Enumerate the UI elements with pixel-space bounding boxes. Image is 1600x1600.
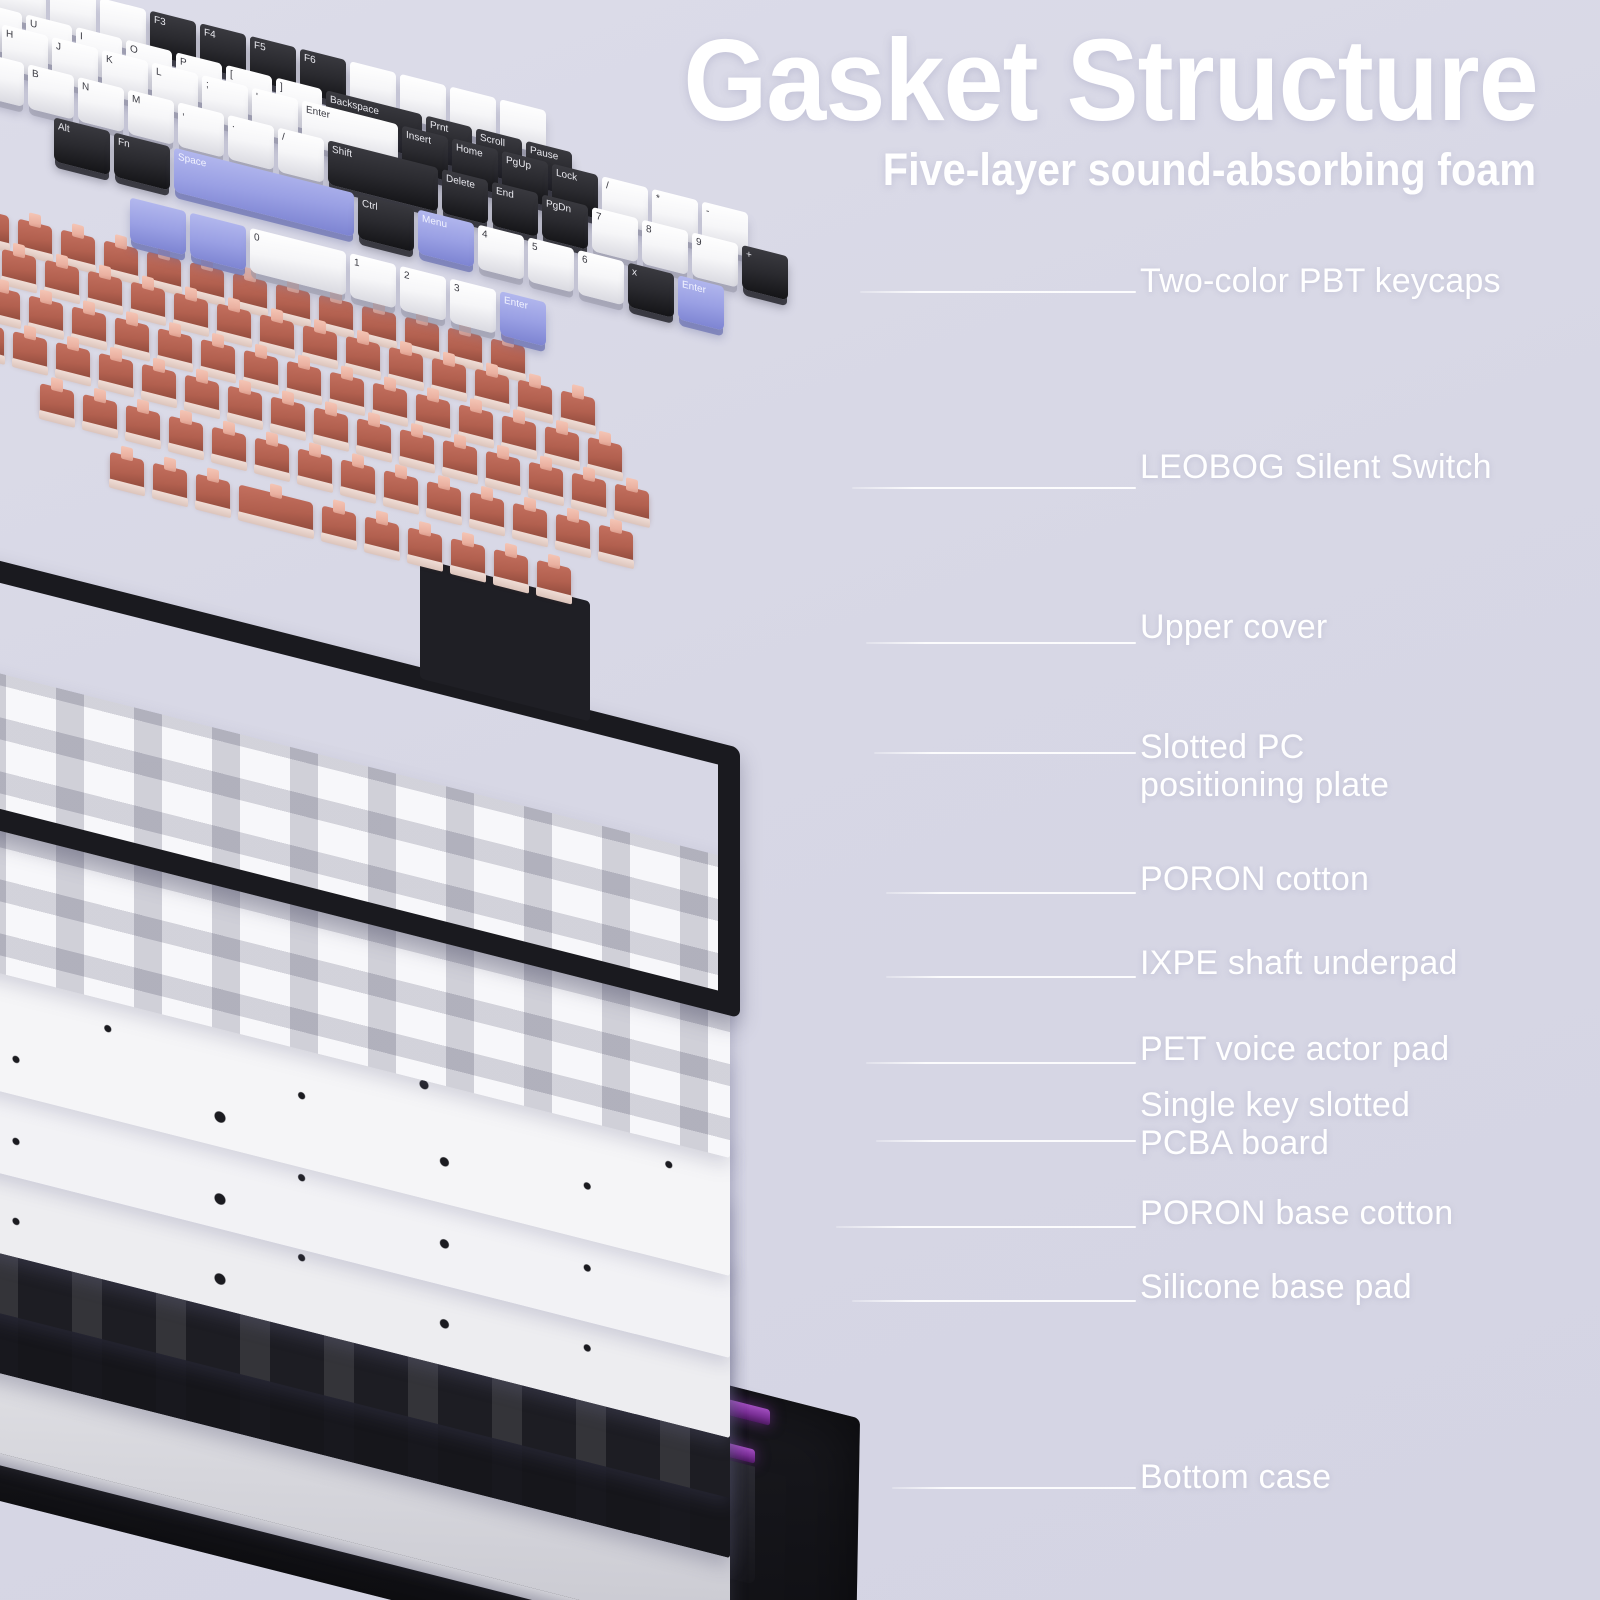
mechanical-switch — [513, 503, 547, 542]
keycap — [130, 197, 186, 255]
mechanical-switch — [212, 426, 246, 465]
mechanical-switch — [470, 492, 504, 531]
page-title: Gasket Structure — [684, 22, 1538, 138]
callout-label-poron-cotton: PORON cotton — [1140, 860, 1369, 898]
callout-label-switches: LEOBOG Silent Switch — [1140, 448, 1492, 486]
keycap: Enter — [500, 291, 546, 347]
mechanical-switch — [365, 516, 399, 555]
callout-label-pcba: Single key slotted PCBA board — [1140, 1086, 1410, 1162]
callout-label-silicone-base: Silicone base pad — [1140, 1268, 1412, 1306]
leader-line-silicone-base — [852, 1300, 1136, 1302]
callout-label-ixpe: IXPE shaft underpad — [1140, 944, 1458, 982]
callout-label-keycaps: Two-color PBT keycaps — [1140, 262, 1501, 300]
mechanical-switch — [153, 463, 187, 502]
keycap: 5 — [528, 237, 574, 293]
leader-line-keycaps — [860, 291, 1136, 293]
mechanical-switch — [298, 448, 332, 487]
callout-label-bottom-case: Bottom case — [1140, 1458, 1331, 1496]
keycap — [190, 213, 246, 271]
leader-line-upper-cover — [866, 642, 1136, 644]
keycap: 2 — [400, 266, 446, 322]
keycap: Enter — [678, 275, 724, 331]
leader-line-switches — [852, 487, 1136, 489]
mechanical-switch — [196, 473, 230, 512]
leader-line-pcba — [876, 1140, 1136, 1142]
leader-line-pc-plate — [874, 752, 1136, 754]
mechanical-switch — [572, 472, 606, 511]
keycap: 4 — [478, 225, 524, 281]
mechanical-switch — [537, 560, 571, 599]
callout-label-pet-pad: PET voice actor pad — [1140, 1030, 1449, 1068]
mechanical-switch — [110, 452, 144, 491]
mechanical-switch — [599, 524, 633, 563]
keycap: x — [628, 262, 674, 318]
mechanical-switch — [408, 527, 442, 566]
callout-label-pc-plate: Slotted PC positioning plate — [1140, 728, 1389, 804]
mechanical-switch — [400, 429, 434, 468]
keycap: 6 — [578, 250, 624, 306]
mechanical-switch — [255, 437, 289, 476]
mechanical-switch — [322, 505, 356, 544]
mechanical-switch — [239, 484, 313, 533]
mechanical-switch — [341, 459, 375, 498]
keycap: 3 — [450, 278, 496, 334]
mechanical-switch — [451, 538, 485, 577]
leader-line-ixpe — [886, 976, 1136, 978]
callout-label-poron-base: PORON base cotton — [1140, 1194, 1453, 1232]
callout-label-upper-cover: Upper cover — [1140, 608, 1327, 646]
mechanical-switch — [529, 462, 563, 501]
keycap: 0 — [250, 228, 346, 296]
exploded-view-diagram: F3F4F5F6ERTYUIOP[]BackspacePrntScrollPau… — [0, 0, 1600, 1600]
leader-line-bottom-case — [892, 1487, 1136, 1489]
mechanical-switch — [443, 440, 477, 479]
leader-line-pet-pad — [866, 1062, 1136, 1064]
mechanical-switch — [384, 470, 418, 509]
keycap: 1 — [350, 253, 396, 309]
leader-line-poron-base — [836, 1226, 1136, 1228]
mechanical-switch — [427, 481, 461, 520]
page-subtitle: Five-layer sound-absorbing foam — [883, 144, 1536, 196]
mechanical-switch — [486, 451, 520, 490]
mechanical-switch — [494, 549, 528, 588]
keycap: + — [742, 245, 788, 301]
leader-line-poron-cotton — [886, 892, 1136, 894]
mechanical-switch — [556, 514, 590, 553]
mechanical-switch — [615, 483, 649, 522]
